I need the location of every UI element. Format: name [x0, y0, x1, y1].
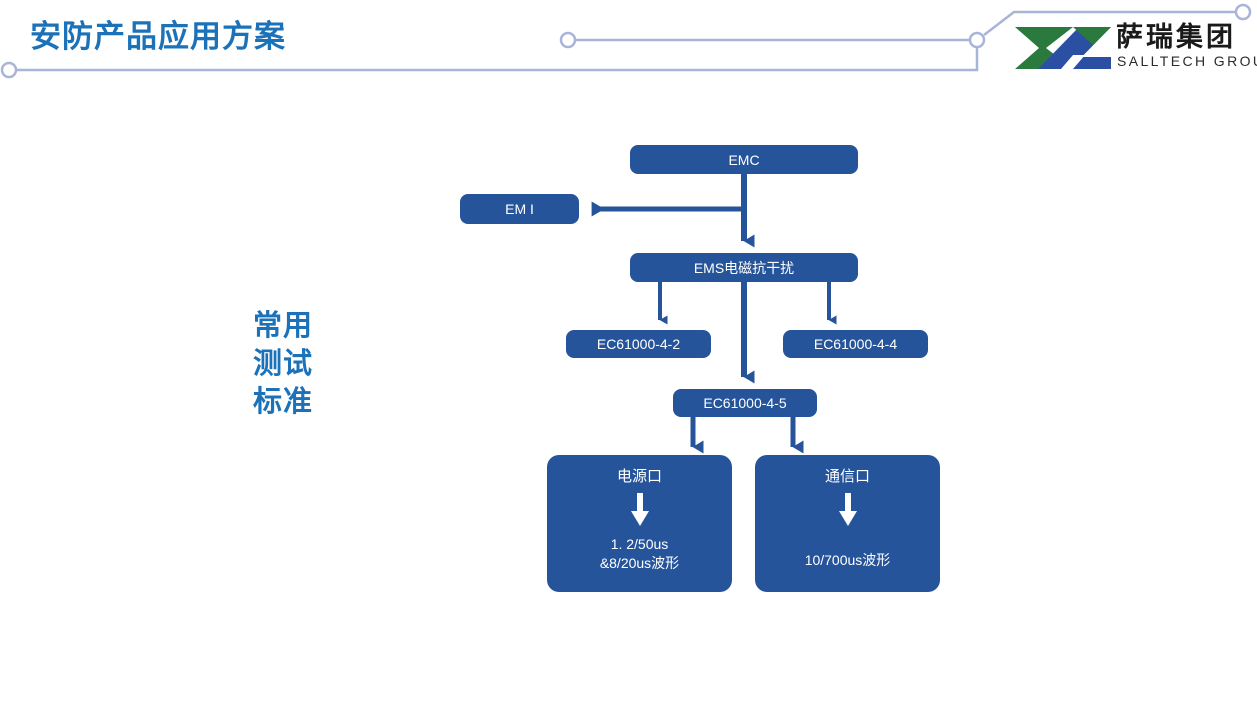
node-ec61000-4-5[interactable]: EC61000-4-5 [673, 389, 817, 417]
node-power-port-title: 电源口 [617, 467, 662, 487]
node-comm-port-title: 通信口 [825, 467, 870, 487]
node-emc[interactable]: EMC [630, 145, 858, 174]
node-emi-label: EM I [505, 200, 534, 218]
node-ec61000-4-2[interactable]: EC61000-4-2 [566, 330, 711, 358]
node-ems-label: EMS电磁抗干扰 [694, 259, 794, 277]
node-ec61000-4-4-label: EC61000-4-4 [814, 335, 897, 353]
node-power-port-subtext: 1. 2/50us &8/20us波形 [600, 533, 679, 573]
node-emi[interactable]: EM I [460, 194, 579, 224]
node-emc-label: EMC [728, 151, 759, 169]
node-ec61000-4-2-label: EC61000-4-2 [597, 335, 680, 353]
node-ec61000-4-4[interactable]: EC61000-4-4 [783, 330, 928, 358]
node-ems[interactable]: EMS电磁抗干扰 [630, 253, 858, 282]
node-comm-port-subtext: 10/700us波形 [805, 533, 891, 570]
down-arrow-icon [629, 493, 651, 527]
down-arrow-icon [837, 493, 859, 527]
node-comm-port[interactable]: 通信口 10/700us波形 [755, 455, 940, 592]
node-power-port[interactable]: 电源口 1. 2/50us &8/20us波形 [547, 455, 732, 592]
node-ec61000-4-5-label: EC61000-4-5 [703, 394, 786, 412]
emc-standards-flowchart: EMC EM I EMS电磁抗干扰 EC61000-4-2 EC61000-4-… [0, 0, 1257, 704]
